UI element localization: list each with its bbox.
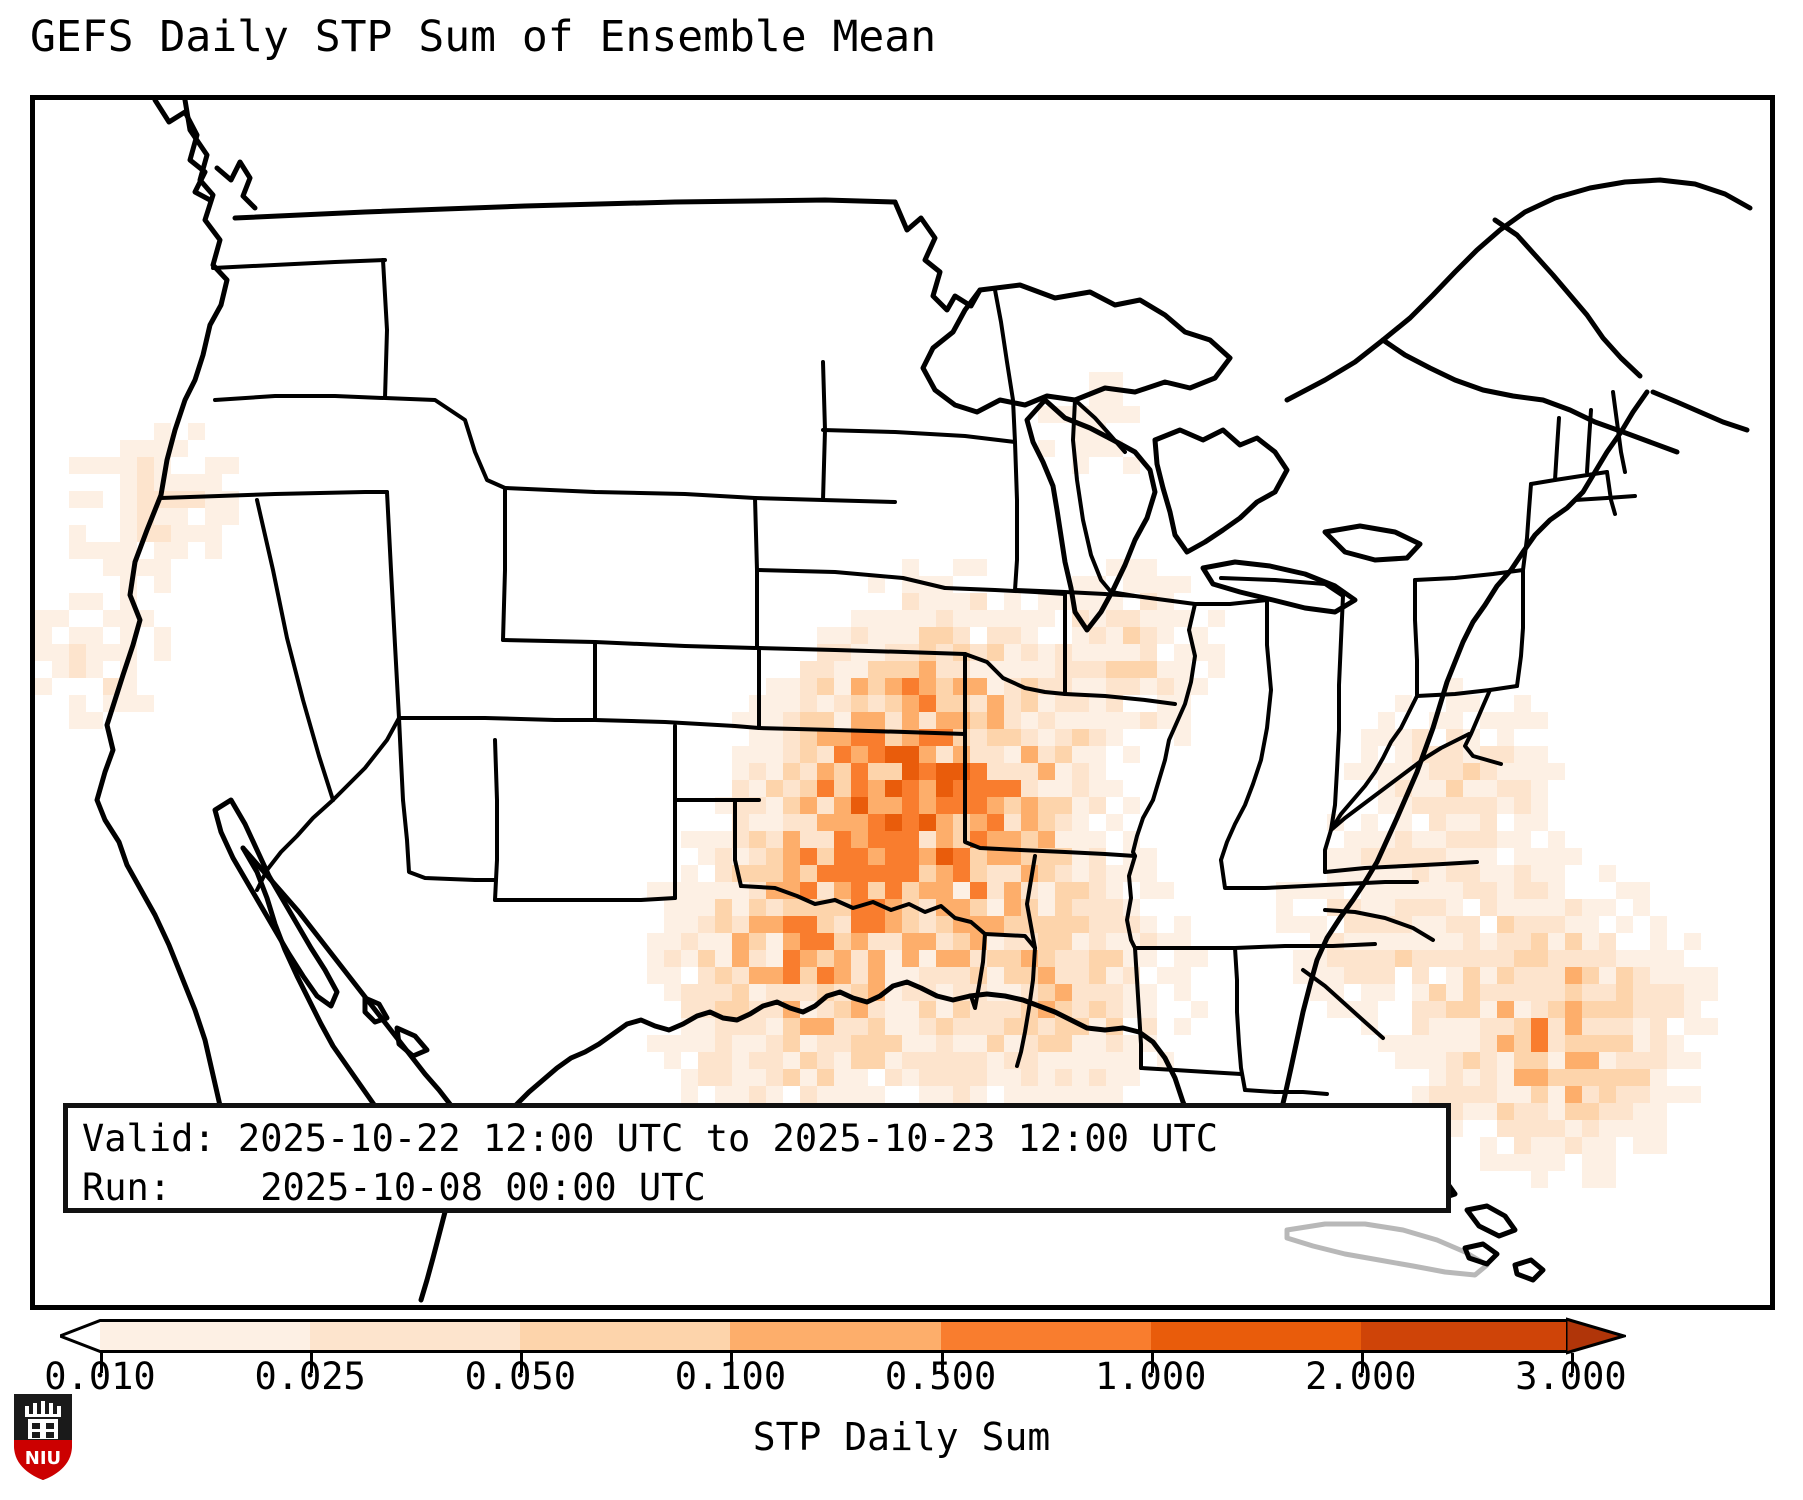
stp-grid-cell: [1072, 933, 1089, 950]
stp-grid-cell: [851, 678, 868, 695]
stp-grid-cell: [1497, 797, 1514, 814]
stp-grid-cell: [1140, 882, 1157, 899]
stp-grid-cell: [919, 916, 936, 933]
stp-grid-cell: [1582, 916, 1599, 933]
stp-grid-cell: [1089, 916, 1106, 933]
stp-grid-cell: [1514, 916, 1531, 933]
stp-grid-cell: [1514, 831, 1531, 848]
stp-grid-cell: [1140, 610, 1157, 627]
stp-grid-cell: [936, 933, 953, 950]
stp-grid-cell: [1667, 984, 1684, 1001]
stp-grid-cell: [1514, 797, 1531, 814]
stp-grid-cell: [902, 1018, 919, 1035]
stp-grid-cell: [1140, 848, 1157, 865]
stp-grid-cell: [1633, 1001, 1650, 1018]
stp-grid-cell: [1480, 967, 1497, 984]
stp-grid-cell: [936, 780, 953, 797]
stp-grid-cell: [1055, 865, 1072, 882]
stp-grid-cell: [1616, 1035, 1633, 1052]
stp-grid-cell: [936, 627, 953, 644]
stp-grid-cell: [1293, 950, 1310, 967]
stp-grid-cell: [902, 763, 919, 780]
stp-grid-cell: [1582, 1154, 1599, 1171]
stp-grid-cell: [1548, 1103, 1565, 1120]
stp-grid-cell: [1684, 967, 1701, 984]
stp-grid-cell: [681, 950, 698, 967]
stp-grid-cell: [1055, 950, 1072, 967]
stp-grid-cell: [970, 865, 987, 882]
stp-grid-cell: [1531, 763, 1548, 780]
stp-grid-cell: [817, 882, 834, 899]
stp-grid-cell: [783, 865, 800, 882]
stp-grid-cell: [69, 627, 86, 644]
stp-grid-cell: [1106, 644, 1123, 661]
stp-grid-cell: [188, 423, 205, 440]
stp-grid-cell: [783, 780, 800, 797]
stp-grid-cell: [1344, 848, 1361, 865]
stp-grid-cell: [1429, 814, 1446, 831]
stp-grid-cell: [1463, 1035, 1480, 1052]
stp-grid-cell: [851, 712, 868, 729]
stp-grid-cell: [1055, 984, 1072, 1001]
stp-grid-cell: [919, 746, 936, 763]
stp-grid-cell: [1582, 1086, 1599, 1103]
stp-grid-cell: [1106, 661, 1123, 678]
stp-grid-cell: [868, 712, 885, 729]
colorbar-tick-label-3: 0.100: [675, 1355, 786, 1398]
stp-grid-cell: [1599, 984, 1616, 1001]
stp-grid-cell: [1055, 814, 1072, 831]
stp-grid-cell: [698, 933, 715, 950]
stp-grid-cell: [1497, 1154, 1514, 1171]
stp-grid-cell: [936, 848, 953, 865]
stp-grid-cell: [1565, 1001, 1582, 1018]
stp-grid-cell: [1344, 916, 1361, 933]
stp-grid-cell: [1565, 899, 1582, 916]
stp-grid-cell: [1004, 661, 1021, 678]
stp-grid-cell: [834, 695, 851, 712]
stp-grid-cell: [1531, 712, 1548, 729]
stp-grid-cell: [1157, 576, 1174, 593]
stp-grid-cell: [885, 661, 902, 678]
stp-grid-cell: [936, 1052, 953, 1069]
stp-grid-cell: [851, 661, 868, 678]
stp-grid-cell: [52, 644, 69, 661]
stp-grid-cell: [817, 780, 834, 797]
stp-grid-cell: [1089, 661, 1106, 678]
stp-grid-cell: [800, 831, 817, 848]
stp-grid-cell: [69, 542, 86, 559]
stp-grid-cell: [902, 559, 919, 576]
stp-grid-cell: [919, 712, 936, 729]
stp-grid-cell: [834, 780, 851, 797]
stp-grid-cell: [987, 763, 1004, 780]
stp-grid-cell: [851, 1086, 868, 1103]
stp-grid-cell: [851, 831, 868, 848]
stp-grid-cell: [1089, 1052, 1106, 1069]
stp-grid-cell: [783, 1035, 800, 1052]
stp-grid-cell: [868, 933, 885, 950]
stp-grid-cell: [817, 933, 834, 950]
stp-grid-cell: [1395, 950, 1412, 967]
stp-grid-cell: [902, 746, 919, 763]
stp-grid-cell: [783, 1069, 800, 1086]
stp-grid-cell: [1004, 950, 1021, 967]
stp-grid-cell: [1106, 967, 1123, 984]
stp-grid-cell: [1531, 1001, 1548, 1018]
stp-grid-cell: [766, 797, 783, 814]
stp-grid-cell: [919, 780, 936, 797]
stp-grid-cell: [783, 916, 800, 933]
stp-grid-cell: [817, 712, 834, 729]
stp-grid-cell: [885, 780, 902, 797]
stp-grid-cell: [1055, 967, 1072, 984]
stp-grid-cell: [681, 1069, 698, 1086]
stp-grid-cell: [800, 780, 817, 797]
stp-grid-cell: [834, 950, 851, 967]
stp-grid-cell: [851, 865, 868, 882]
stp-grid-cell: [1616, 1103, 1633, 1120]
stp-grid-cell: [987, 916, 1004, 933]
stp-grid-cell: [715, 950, 732, 967]
stp-grid-cell: [732, 1069, 749, 1086]
stp-grid-cell: [902, 848, 919, 865]
stp-grid-cell: [953, 882, 970, 899]
stp-grid-cell: [953, 814, 970, 831]
stp-grid-cell: [1582, 950, 1599, 967]
stp-grid-cell: [1395, 899, 1412, 916]
stp-grid-cell: [766, 831, 783, 848]
stp-grid-cell: [749, 763, 766, 780]
stp-grid-cell: [1021, 610, 1038, 627]
stp-grid-cell: [69, 712, 86, 729]
stp-grid-cell: [1548, 1137, 1565, 1154]
stp-grid-cell: [1650, 933, 1667, 950]
stp-grid-cell: [800, 984, 817, 1001]
stp-grid-cell: [1616, 950, 1633, 967]
stp-grid-cell: [1514, 882, 1531, 899]
stp-grid-cell: [800, 712, 817, 729]
stp-grid-cell: [1497, 746, 1514, 763]
stp-grid-cell: [1004, 1069, 1021, 1086]
stp-grid-cell: [1378, 933, 1395, 950]
stp-grid-cell: [1582, 1069, 1599, 1086]
stp-grid-cell: [1446, 797, 1463, 814]
stp-grid-cell: [885, 933, 902, 950]
stp-grid-cell: [1191, 1001, 1208, 1018]
stp-grid-cell: [698, 950, 715, 967]
stp-grid-cell: [1684, 1001, 1701, 1018]
stp-grid-cell: [1582, 933, 1599, 950]
stp-grid-cell: [1106, 865, 1123, 882]
stp-grid-cell: [953, 661, 970, 678]
stp-grid-cell: [800, 678, 817, 695]
stp-grid-cell: [885, 746, 902, 763]
stp-grid-cell: [919, 1052, 936, 1069]
stp-grid-cell: [205, 474, 222, 491]
stp-grid-cell: [1463, 1018, 1480, 1035]
stp-grid-cell: [936, 695, 953, 712]
stp-grid-cell: [970, 1069, 987, 1086]
stp-grid-cell: [868, 627, 885, 644]
stp-grid-cell: [1378, 712, 1395, 729]
stp-grid-cell: [205, 542, 222, 559]
stp-grid-cell: [1480, 933, 1497, 950]
stp-grid-cell: [936, 814, 953, 831]
stp-grid-cell: [1004, 1086, 1021, 1103]
stp-grid-cell: [1514, 780, 1531, 797]
stp-grid-cell: [1599, 1035, 1616, 1052]
stp-grid-cell: [188, 525, 205, 542]
stp-grid-cell: [1089, 1086, 1106, 1103]
stp-grid-cell: [1548, 967, 1565, 984]
stp-grid-cell: [732, 933, 749, 950]
stp-grid-cell: [1582, 899, 1599, 916]
stp-grid-cell: [987, 950, 1004, 967]
stp-grid-cell: [1106, 1001, 1123, 1018]
stp-grid-cell: [222, 508, 239, 525]
stp-grid-cell: [800, 729, 817, 746]
stp-grid-cell: [120, 474, 137, 491]
stp-grid-cell: [732, 950, 749, 967]
stp-grid-cell: [35, 678, 52, 695]
stp-grid-cell: [1497, 1086, 1514, 1103]
stp-grid-cell: [766, 1018, 783, 1035]
stp-grid-cell: [936, 1069, 953, 1086]
stp-grid-cell: [1599, 1120, 1616, 1137]
stp-grid-cell: [1106, 406, 1123, 423]
stp-grid-cell: [1480, 814, 1497, 831]
stp-grid-cell: [868, 763, 885, 780]
stp-grid-cell: [647, 882, 664, 899]
stp-grid-cell: [1072, 797, 1089, 814]
stp-grid-cell: [953, 967, 970, 984]
stp-grid-cell: [1480, 848, 1497, 865]
stp-grid-cell: [1446, 916, 1463, 933]
stp-grid-cell: [970, 610, 987, 627]
stp-grid-cell: [851, 950, 868, 967]
stp-grid-cell: [1361, 729, 1378, 746]
stp-grid-cell: [1140, 627, 1157, 644]
stp-grid-cell: [766, 967, 783, 984]
stp-grid-cell: [1446, 763, 1463, 780]
stp-grid-cell: [919, 831, 936, 848]
stp-grid-cell: [817, 1069, 834, 1086]
stp-grid-cell: [1514, 746, 1531, 763]
stp-grid-cell: [800, 1086, 817, 1103]
stp-grid-cell: [732, 984, 749, 1001]
stp-grid-cell: [647, 950, 664, 967]
stp-grid-cell: [1480, 984, 1497, 1001]
stp-grid-cell: [154, 559, 171, 576]
stp-grid-cell: [1072, 1035, 1089, 1052]
stp-grid-cell: [1072, 899, 1089, 916]
stp-grid-cell: [851, 967, 868, 984]
stp-grid-cell: [834, 627, 851, 644]
stp-grid-cell: [1497, 729, 1514, 746]
stp-grid-cell: [868, 831, 885, 848]
stp-grid-cell: [1480, 899, 1497, 916]
stp-grid-cell: [885, 967, 902, 984]
stp-grid-cell: [1565, 950, 1582, 967]
stp-grid-cell: [970, 746, 987, 763]
stp-grid-cell: [1463, 1103, 1480, 1120]
stp-grid-cell: [1599, 1154, 1616, 1171]
stp-grid-cell: [1004, 1035, 1021, 1052]
stp-grid-cell: [851, 763, 868, 780]
stp-grid-cell: [987, 695, 1004, 712]
stp-grid-cell: [868, 1001, 885, 1018]
stp-grid-cell: [1089, 882, 1106, 899]
stp-grid-cell: [919, 678, 936, 695]
stp-grid-cell: [69, 695, 86, 712]
stp-grid-cell: [800, 916, 817, 933]
stp-grid-cell: [1463, 882, 1480, 899]
stp-grid-cell: [987, 627, 1004, 644]
stp-grid-cell: [1633, 1086, 1650, 1103]
stp-grid-cell: [800, 797, 817, 814]
stp-grid-cell: [902, 1069, 919, 1086]
stp-grid-cell: [1038, 661, 1055, 678]
stp-grid-cell: [1344, 831, 1361, 848]
stp-grid-cell: [1650, 1035, 1667, 1052]
stp-grid-cell: [936, 661, 953, 678]
stp-grid-cell: [1038, 1086, 1055, 1103]
stp-grid-cell: [1055, 916, 1072, 933]
stp-grid-cell: [1123, 457, 1140, 474]
stp-grid-cell: [1531, 1154, 1548, 1171]
stp-grid-cell: [766, 695, 783, 712]
stp-grid-cell: [154, 423, 171, 440]
stp-grid-cell: [953, 763, 970, 780]
stp-grid-cell: [1361, 916, 1378, 933]
stp-grid-cell: [1038, 865, 1055, 882]
stp-grid-cell: [817, 916, 834, 933]
stp-grid-cell: [1140, 1001, 1157, 1018]
stp-grid-cell: [1429, 865, 1446, 882]
stp-grid-cell: [817, 661, 834, 678]
stp-grid-cell: [868, 916, 885, 933]
stp-grid-cell: [1038, 1018, 1055, 1035]
stp-grid-cell: [1004, 729, 1021, 746]
stp-grid-cell: [885, 950, 902, 967]
stp-grid-cell: [1089, 848, 1106, 865]
stp-grid-cell: [987, 967, 1004, 984]
stp-grid-cell: [1548, 882, 1565, 899]
stp-grid-cell: [120, 491, 137, 508]
stp-grid-cell: [987, 797, 1004, 814]
stp-grid-cell: [1004, 814, 1021, 831]
stp-grid-cell: [817, 1052, 834, 1069]
stp-grid-cell: [1106, 1086, 1123, 1103]
stp-grid-cell: [817, 814, 834, 831]
stp-grid-cell: [1599, 1103, 1616, 1120]
stp-grid-cell: [953, 712, 970, 729]
stp-grid-cell: [86, 593, 103, 610]
stp-grid-cell: [902, 780, 919, 797]
stp-grid-cell: [1582, 1120, 1599, 1137]
stp-grid-cell: [783, 899, 800, 916]
stp-grid-cell: [1089, 746, 1106, 763]
stp-grid-cell: [817, 678, 834, 695]
stp-grid-cell: [766, 1052, 783, 1069]
stp-grid-cell: [732, 1052, 749, 1069]
stp-grid-cell: [1072, 984, 1089, 1001]
stp-grid-cell: [1089, 1035, 1106, 1052]
stp-grid-cell: [103, 644, 120, 661]
stp-grid-cell: [1140, 712, 1157, 729]
stp-grid-cell: [1412, 1001, 1429, 1018]
stp-grid-cell: [953, 1052, 970, 1069]
stp-grid-cell: [1548, 984, 1565, 1001]
stp-grid-cell: [1174, 729, 1191, 746]
stp-grid-cell: [936, 610, 953, 627]
stp-grid-cell: [1089, 899, 1106, 916]
stp-grid-cell: [766, 933, 783, 950]
stp-grid-cell: [1361, 950, 1378, 967]
stp-grid-cell: [1633, 1069, 1650, 1086]
stp-grid-cell: [1106, 933, 1123, 950]
stp-grid-cell: [154, 644, 171, 661]
stp-grid-cell: [69, 644, 86, 661]
stp-grid-cell: [1140, 576, 1157, 593]
stp-grid-cell: [681, 933, 698, 950]
stp-grid-cell: [1565, 933, 1582, 950]
stp-grid-cell: [1429, 763, 1446, 780]
stp-grid-cell: [1021, 695, 1038, 712]
stp-grid-cell: [1497, 899, 1514, 916]
stp-grid-cell: [1361, 933, 1378, 950]
stp-grid-cell: [1531, 780, 1548, 797]
stp-grid-cell: [851, 797, 868, 814]
stp-grid-cell: [987, 678, 1004, 695]
stp-grid-cell: [1599, 1018, 1616, 1035]
stp-grid-cell: [1446, 1018, 1463, 1035]
stp-grid-cell: [851, 933, 868, 950]
stp-grid-cell: [936, 763, 953, 780]
stp-grid-cell: [919, 950, 936, 967]
stp-grid-cell: [1480, 1137, 1497, 1154]
stp-grid-cell: [1174, 576, 1191, 593]
stp-grid-cell: [817, 950, 834, 967]
stp-grid-cell: [1055, 695, 1072, 712]
stp-grid-cell: [1361, 831, 1378, 848]
stp-grid-cell: [749, 848, 766, 865]
stp-grid-cell: [817, 644, 834, 661]
stp-grid-cell: [1072, 695, 1089, 712]
stp-grid-cell: [1072, 576, 1089, 593]
stp-grid-cell: [1072, 831, 1089, 848]
stp-grid-cell: [1531, 933, 1548, 950]
stp-grid-cell: [936, 678, 953, 695]
stp-grid-cell: [783, 746, 800, 763]
stp-grid-cell: [1089, 644, 1106, 661]
stp-grid-cell: [834, 916, 851, 933]
stp-grid-cell: [681, 1035, 698, 1052]
stp-grid-cell: [1004, 797, 1021, 814]
stp-grid-cell: [1667, 967, 1684, 984]
stp-grid-cell: [834, 661, 851, 678]
stp-grid-cell: [834, 644, 851, 661]
stp-grid-cell: [902, 627, 919, 644]
stp-grid-cell: [1616, 1120, 1633, 1137]
stp-grid-cell: [1497, 933, 1514, 950]
stp-grid-cell: [1650, 967, 1667, 984]
stp-grid-cell: [1378, 967, 1395, 984]
stp-grid-cell: [1174, 916, 1191, 933]
stp-grid-cell: [800, 763, 817, 780]
stp-grid-cell: [953, 593, 970, 610]
